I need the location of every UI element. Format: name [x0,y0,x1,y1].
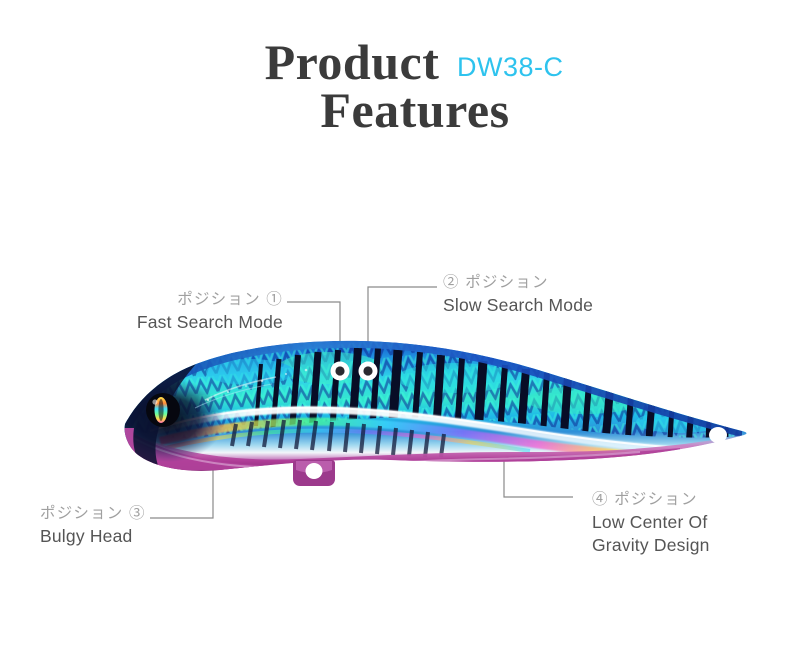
front-tow-hole [331,362,350,381]
tail-hole [709,427,727,443]
belly-eyelet [293,460,335,486]
rear-tow-hole [359,362,378,381]
lure-body [112,330,760,486]
lure-eye [146,393,180,427]
product-diagram [0,0,790,666]
